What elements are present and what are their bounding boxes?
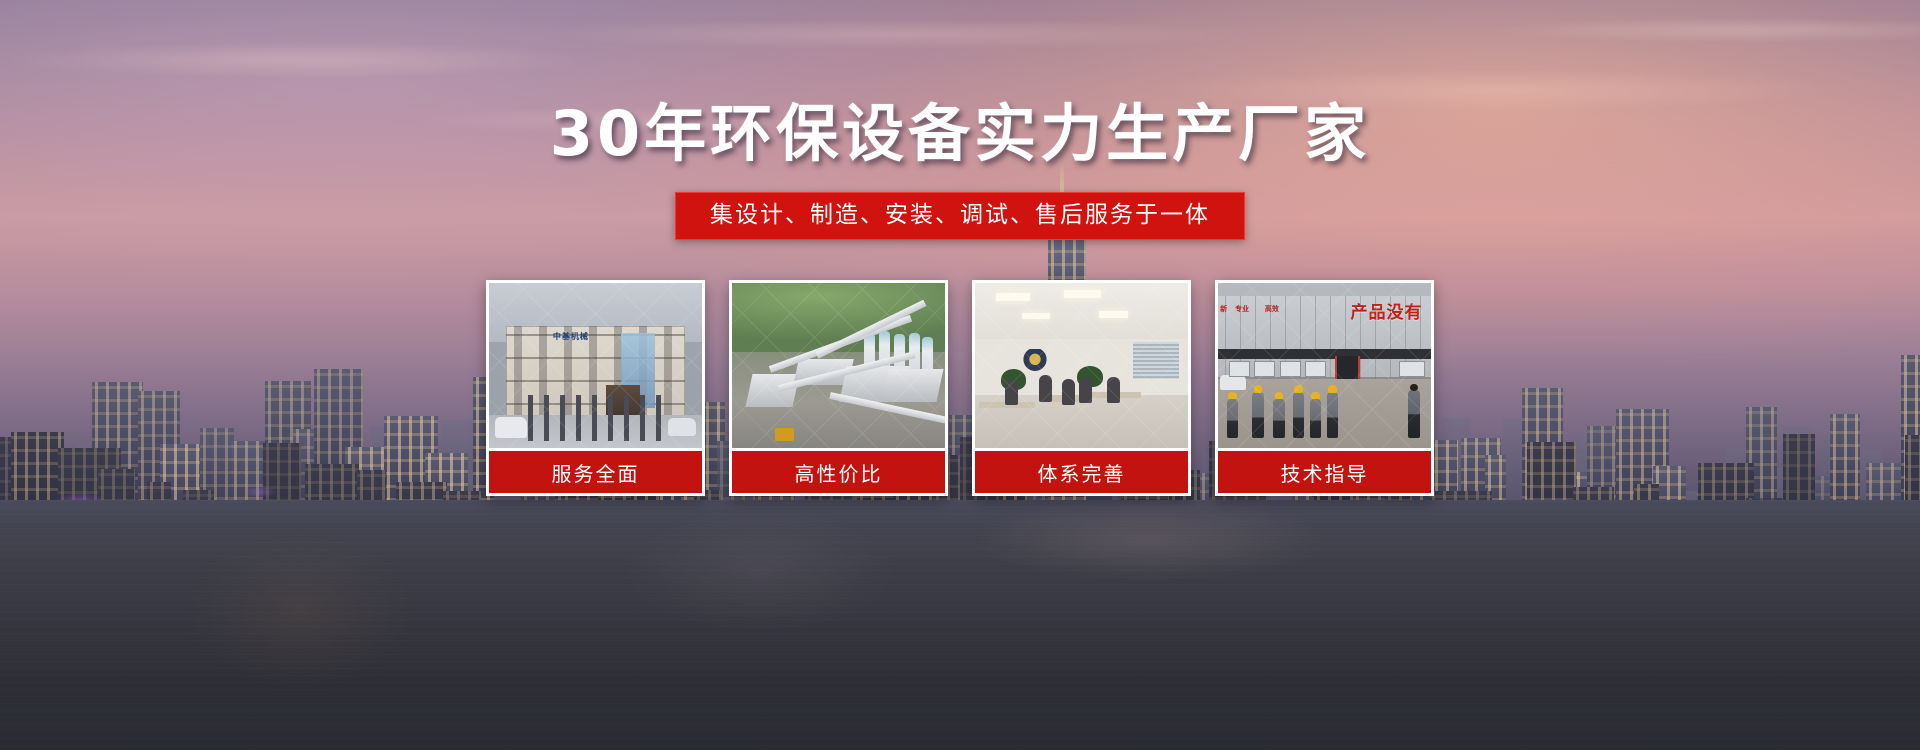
feature-card-2[interactable]: 高性价比 (729, 280, 948, 496)
card-label-2: 高性价比 (732, 448, 945, 493)
watermark-overlay (1218, 283, 1431, 448)
subtitle-banner: 集设计、制造、安装、调试、售后服务于一体 (675, 192, 1245, 240)
watermark-overlay (489, 283, 702, 448)
card-photo-factory-workers: 产品没有 新专业高效 (1218, 283, 1431, 448)
card-photo-plant-aerial (732, 283, 945, 448)
hero-banner: 30年环保设备实力生产厂家 集设计、制造、安装、调试、售后服务于一体 中基机械 … (0, 0, 1920, 750)
card-photo-office-interior (975, 283, 1188, 448)
page-title: 30年环保设备实力生产厂家 (0, 103, 1920, 165)
card-label-4: 技术指导 (1218, 448, 1431, 493)
water-reflection (0, 500, 1920, 750)
feature-card-3[interactable]: 体系完善 (972, 280, 1191, 496)
feature-card-4[interactable]: 产品没有 新专业高效 技术指导 (1215, 280, 1434, 496)
watermark-overlay (975, 283, 1188, 448)
feature-card-list: 中基机械 服务全面 高性价比 (486, 280, 1434, 496)
card-photo-office-building: 中基机械 (489, 283, 702, 448)
feature-card-1[interactable]: 中基机械 服务全面 (486, 280, 705, 496)
card-label-1: 服务全面 (489, 448, 702, 493)
card-label-3: 体系完善 (975, 448, 1188, 493)
watermark-overlay (732, 283, 945, 448)
